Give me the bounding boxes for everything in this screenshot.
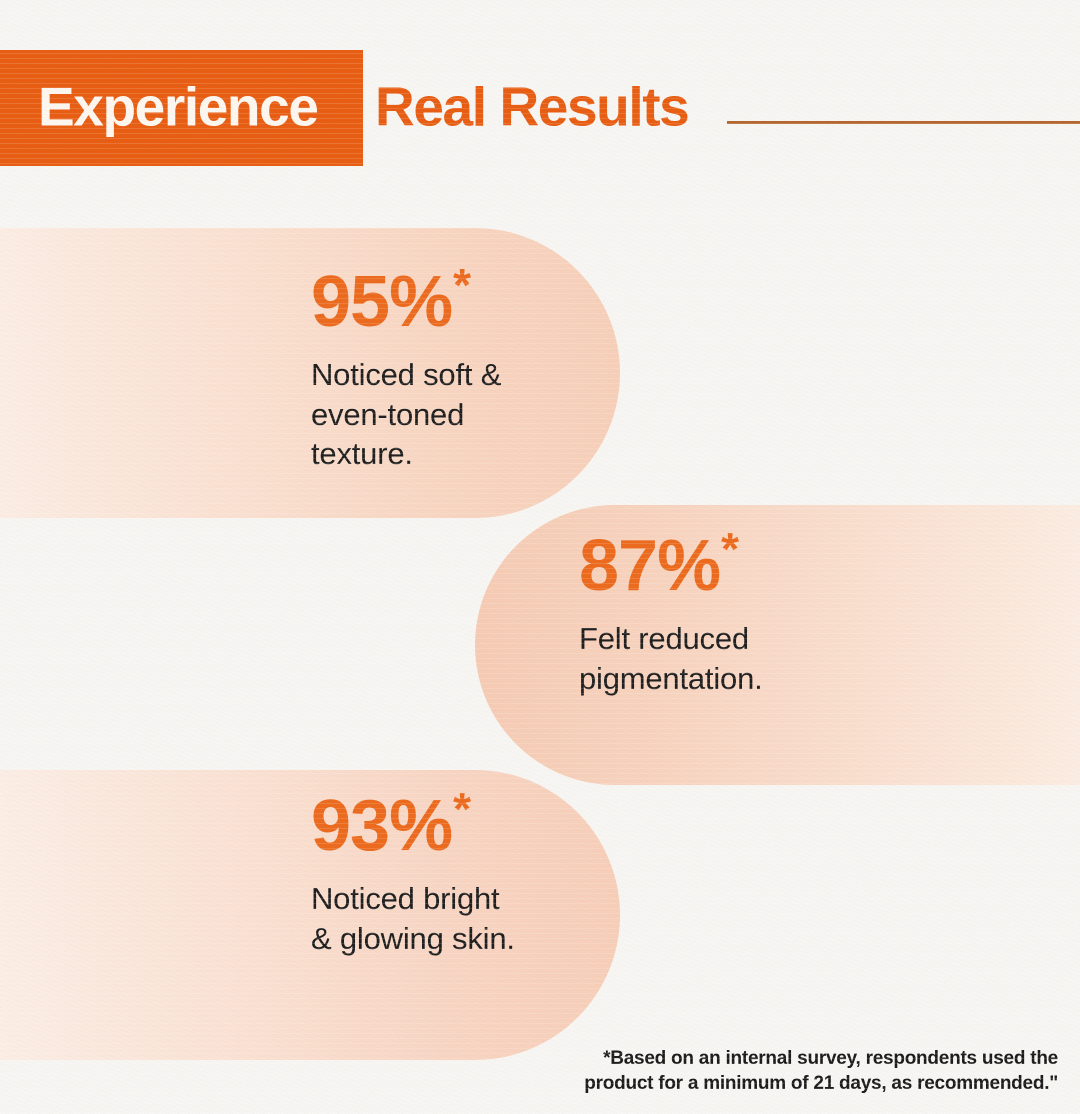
stat-block-3: 93%* Noticed bright & glowing skin.	[311, 790, 515, 958]
stat-pill-shape-1	[0, 228, 620, 518]
stat-number-3: 93%*	[311, 790, 515, 862]
badge-label: Experience	[38, 75, 318, 139]
results-poster: Experience Real Results 95%* Noticed sof…	[0, 0, 1080, 1114]
asterisk-marker-1: *	[453, 259, 471, 311]
stat-value-1: 95%	[311, 262, 452, 342]
stat-block-1: 95%* Noticed soft & even-toned texture.	[311, 266, 501, 474]
asterisk-marker-2: *	[721, 523, 739, 575]
stat-description-3: Noticed bright & glowing skin.	[311, 879, 515, 958]
survey-footnote: *Based on an internal survey, respondent…	[498, 1046, 1058, 1096]
header: Experience Real Results	[0, 50, 1080, 166]
stat-value-3: 93%	[311, 786, 452, 866]
stat-block-2: 87%* Felt reduced pigmentation.	[579, 530, 763, 698]
stat-description-1: Noticed soft & even-toned texture.	[311, 355, 501, 474]
stat-number-1: 95%*	[311, 266, 501, 338]
experience-badge: Experience	[0, 50, 363, 166]
header-rule-line	[727, 121, 1080, 124]
stat-pill-shape-3	[0, 770, 620, 1060]
stat-description-2: Felt reduced pigmentation.	[579, 619, 763, 698]
page-title: Real Results	[375, 75, 688, 139]
asterisk-marker-3: *	[453, 783, 471, 835]
stat-value-2: 87%	[579, 526, 720, 606]
stat-pill-shape-2	[475, 505, 1080, 785]
stat-number-2: 87%*	[579, 530, 763, 602]
